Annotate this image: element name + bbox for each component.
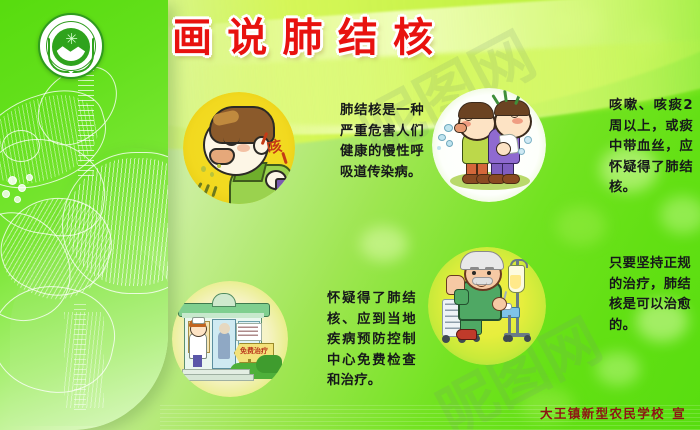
table-leg (508, 315, 511, 337)
footer-credit: 大王镇新型农民学校宣 (0, 403, 686, 422)
illustration-coughing-man: 咳 (183, 92, 295, 204)
panel-text-3: 怀疑得了肺结核、应到当地疾病预防控制中心免费检查和治疗。 (301, 289, 416, 392)
panel-text-2: 咳嗽、咳痰2周以上，或痰中带血丝，应怀疑得了肺结核。 (583, 96, 693, 199)
nurse-cap-icon (192, 317, 205, 324)
patient-hand (492, 297, 507, 311)
footer-organization: 大王镇新型农民学校 (540, 406, 665, 421)
illustration-recovering-patient (428, 247, 546, 365)
patient-shoe (456, 329, 477, 340)
spray-droplet (437, 146, 441, 150)
panel-text-3-content: 怀疑得了肺结核、应到当地疾病预防控制中心免费检查和治疗。 (301, 289, 416, 392)
iv-caster (524, 335, 531, 342)
figure-blush (237, 144, 250, 152)
bokeh-blob (596, 352, 640, 386)
wall-poster (236, 323, 262, 341)
wheat-icon (72, 37, 94, 73)
droplet-icon (210, 172, 214, 177)
title-char: 画 (172, 18, 213, 58)
figure-right-hand (496, 142, 511, 156)
panel-text-4-content: 只要坚持正规的治疗，肺结核是可以治愈的。 (583, 254, 691, 336)
illustration-two-people-sneezing (432, 88, 546, 202)
panel-text-1-content: 肺结核是一种严重危害人们健康的慢性呼吸道传染病。 (314, 101, 424, 183)
patient-silhouette (218, 331, 230, 359)
droplet-icon (217, 164, 221, 168)
spray-droplet (446, 140, 453, 147)
patient-eye (472, 271, 476, 275)
droplet-icon (201, 166, 206, 172)
organization-logo: ✳ (38, 13, 104, 79)
wheat-icon (48, 37, 70, 73)
floret (2, 190, 10, 198)
bokeh-blob (556, 6, 602, 40)
panel-text-1: 肺结核是一种严重危害人们健康的慢性呼吸道传染病。 (314, 101, 424, 183)
clinic-dome (212, 293, 236, 307)
patient-head (219, 323, 230, 334)
bokeh-blob (660, 196, 700, 234)
bed-caster (442, 335, 450, 343)
nurse-legs (193, 355, 202, 367)
figure-left-mouth (454, 123, 467, 133)
floret (26, 174, 33, 181)
clinic-steps (178, 374, 254, 381)
page-title: 画 说 肺 结 核 (172, 13, 434, 63)
bokeh-blob (360, 226, 408, 262)
illustration-clinic: 免费治疗 (172, 281, 288, 397)
title-char: 说 (227, 18, 268, 58)
panel-text-2-content: 咳嗽、咳痰2周以上，或痰中带血丝，应怀疑得了肺结核。 (583, 96, 693, 199)
figure-right-blush (512, 118, 523, 124)
bokeh-blob (626, 24, 666, 56)
patient-eyebrow (470, 267, 479, 270)
iv-bag-fluid (510, 275, 521, 289)
patient-eye (487, 271, 491, 275)
floret (18, 184, 26, 192)
shrub (256, 355, 282, 373)
title-char: 结 (338, 18, 379, 58)
floret (8, 176, 17, 185)
patient-eyebrow (485, 267, 494, 270)
spray-droplet (444, 124, 453, 132)
lotus-seed-pod (2, 130, 40, 162)
spray-droplet (524, 136, 532, 144)
figure-mouth (209, 148, 235, 165)
patient-hair (460, 251, 504, 270)
title-char: 肺 (283, 18, 324, 58)
bokeh-blob (556, 206, 606, 246)
panel-text-4: 只要坚持正规的治疗，肺结核是可以治愈的。 (583, 254, 691, 336)
figure-right-shoe (502, 174, 520, 184)
poster-root: 昵图网 昵图网 昵图网 ✳ (0, 0, 700, 430)
patient-arm (454, 289, 469, 305)
figure-sleeve (275, 178, 291, 198)
stem-hatch (74, 300, 86, 410)
spray-droplet (518, 148, 525, 155)
table-caster (506, 335, 513, 342)
spray-droplet (438, 134, 446, 141)
bokeh-blob (470, 18, 522, 58)
title-char: 核 (393, 18, 434, 58)
footer-suffix: 宣 (672, 406, 686, 421)
floret (14, 196, 21, 203)
